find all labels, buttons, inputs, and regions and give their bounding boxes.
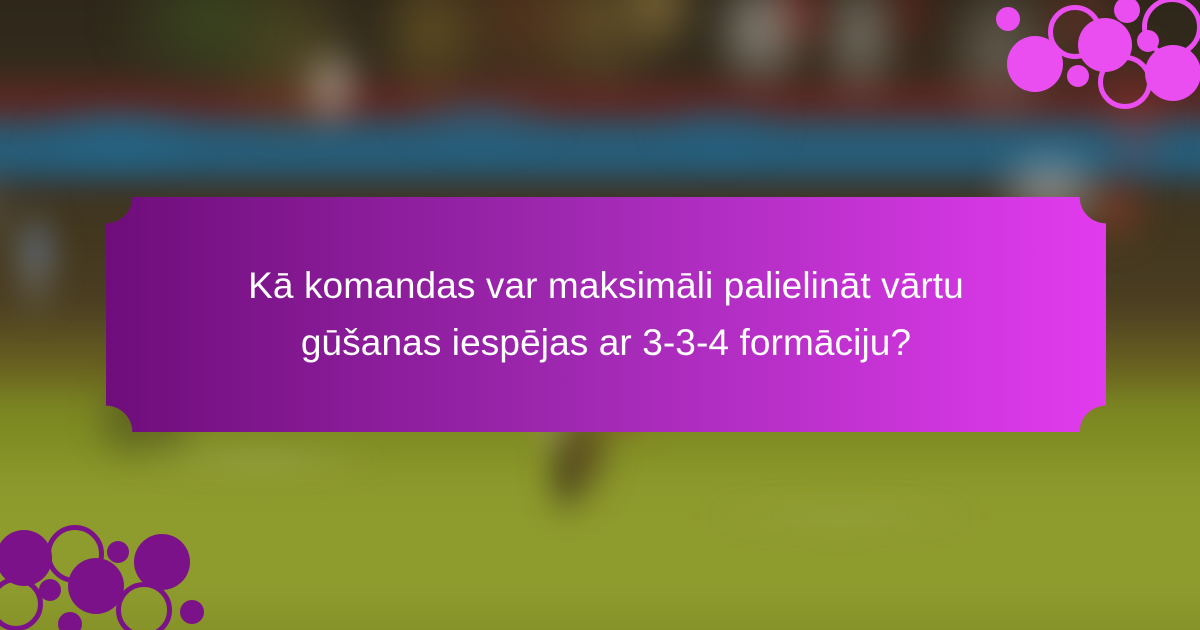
banner-title-line-2: gūšanas iespējas ar 3-3-4 formāciju? <box>248 315 964 371</box>
decorative-circle <box>107 541 129 563</box>
decorative-circle <box>180 600 204 624</box>
decorative-circle <box>1067 65 1089 87</box>
banner-title: Kā komandas var maksimāli palielināt vār… <box>248 258 964 370</box>
banner-title-line-1: Kā komandas var maksimāli palielināt vār… <box>248 258 964 314</box>
title-banner: Kā komandas var maksimāli palielināt vār… <box>106 197 1106 432</box>
decorative-circle <box>1007 36 1063 92</box>
decorative-circle <box>116 582 172 630</box>
decorative-circle <box>1137 30 1159 52</box>
decorative-circle <box>58 612 82 630</box>
decorative-circle <box>1145 45 1200 101</box>
decorative-circle <box>996 7 1020 31</box>
share-card: Kā komandas var maksimāli palielināt vār… <box>0 0 1200 630</box>
decorative-circle <box>1098 55 1152 109</box>
